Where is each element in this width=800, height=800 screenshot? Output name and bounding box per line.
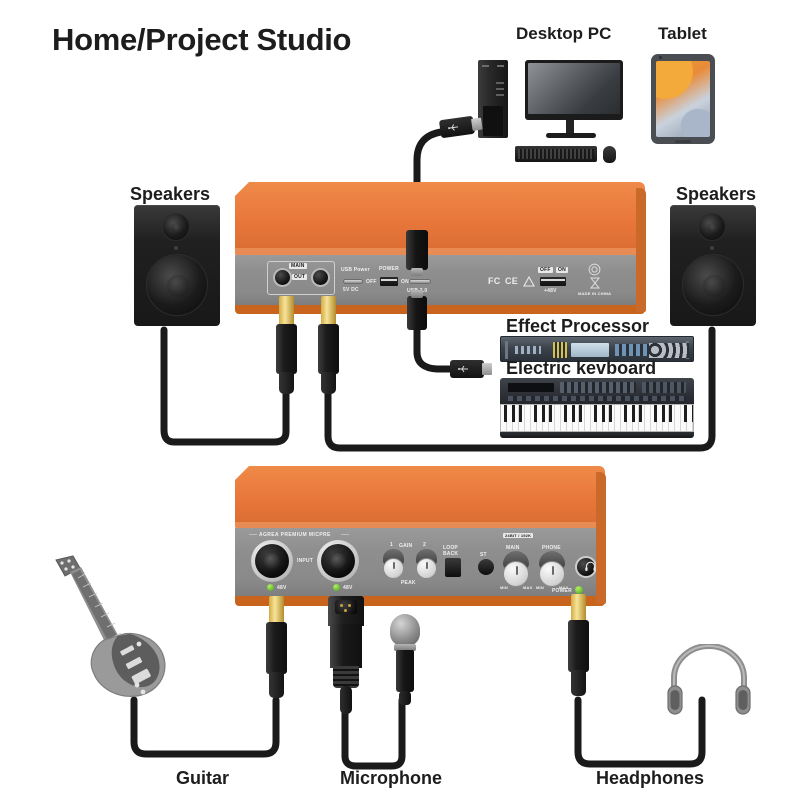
usb-icon-pc xyxy=(447,122,460,134)
usb-c-power-port[interactable] xyxy=(343,279,363,284)
electric-keyboard xyxy=(500,378,694,438)
label-tablet: Tablet xyxy=(658,24,707,44)
phantom-off-label: OFF xyxy=(538,267,553,273)
xlr-strain-relief xyxy=(333,666,359,688)
fx-meter xyxy=(553,342,567,358)
audio-interface-front: AGREA PREMIUM MICPRE INPUT 48V 48V GAIN … xyxy=(235,466,605,606)
gain-knob-2[interactable] xyxy=(416,558,437,579)
power-switch[interactable] xyxy=(380,277,398,286)
input-1-combo-jack[interactable] xyxy=(251,540,293,582)
fx-knobs xyxy=(649,343,689,358)
label-effect-processor: Effect Processor xyxy=(506,316,649,337)
guitar-plug xyxy=(266,596,287,704)
keyboard-keys xyxy=(500,404,694,432)
keyboard-base xyxy=(500,432,694,438)
input-2-combo-jack[interactable] xyxy=(317,540,359,582)
pc-keyboard xyxy=(515,146,597,162)
weee-bin-icon xyxy=(589,277,601,289)
recycle-icon xyxy=(588,263,601,276)
front-panel-face: AGREA PREMIUM MICPRE INPUT 48V 48V GAIN … xyxy=(235,528,605,596)
warning-triangle-icon xyxy=(523,276,535,287)
trs-plug-right xyxy=(318,296,339,396)
audio-interface-rear: MAIN OUT USB Power 5V DC OFF POWER ON US… xyxy=(235,182,645,314)
phantom-1-label: 48V xyxy=(277,585,287,591)
page-title: Home/Project Studio xyxy=(52,22,351,58)
label-microphone: Microphone xyxy=(340,768,442,789)
input-label: INPUT xyxy=(297,558,313,564)
power-label: POWER xyxy=(379,266,399,272)
loopback-button[interactable] xyxy=(445,558,461,577)
pc-tower xyxy=(478,60,508,138)
gain-1-number: 1 xyxy=(390,542,393,548)
label-speakers-right: Speakers xyxy=(676,184,756,205)
main-min-label: MIN xyxy=(500,585,508,590)
electric-guitar xyxy=(40,552,190,712)
keyboard-control-panel xyxy=(500,378,694,404)
interface-top-orange xyxy=(235,182,645,255)
main-label: MAIN xyxy=(289,263,307,269)
headphones xyxy=(666,644,752,720)
woofer-right xyxy=(682,254,744,316)
gain-label: GAIN xyxy=(399,543,412,549)
speaker-right xyxy=(670,205,756,326)
xlr-body xyxy=(330,624,362,668)
xlr-head xyxy=(328,596,364,626)
peak-label: PEAK xyxy=(401,580,416,586)
bit-rate-badge: 24BIT / 192K xyxy=(503,533,533,538)
speaker-left xyxy=(134,205,220,326)
tablet xyxy=(651,54,715,144)
gain-knob-1[interactable] xyxy=(383,558,404,579)
pc-monitor xyxy=(525,60,623,120)
phone-volume-knob[interactable] xyxy=(539,561,565,587)
label-speakers-left: Speakers xyxy=(130,184,210,205)
main-out-jack-left[interactable] xyxy=(273,268,292,287)
mic-grille xyxy=(390,614,420,646)
gain-2-number: 2 xyxy=(423,542,426,548)
phantom-led-1 xyxy=(267,584,274,591)
tweeter-right xyxy=(698,213,726,241)
usb-icon xyxy=(458,364,470,374)
usb-power-label: USB Power xyxy=(341,267,370,273)
fx-display xyxy=(571,343,609,357)
mic-handle xyxy=(396,650,414,692)
st-button[interactable] xyxy=(478,559,494,575)
monitor-stand-base xyxy=(546,133,596,138)
main-out-jack-right[interactable] xyxy=(311,268,330,287)
headphones-svg xyxy=(666,644,752,720)
tablet-camera xyxy=(659,56,662,59)
phantom-on-label: ON xyxy=(556,267,568,273)
phantom-power-switch[interactable] xyxy=(540,277,566,286)
tablet-home-button xyxy=(675,140,691,143)
trs-plug-left xyxy=(276,296,297,396)
power-on-label: ON xyxy=(401,279,409,285)
studio-diagram: Home/Project Studio Desktop PC Tablet xyxy=(0,0,800,800)
usb-c-plug-bottom xyxy=(407,296,427,330)
phantom-2-label: 48V xyxy=(343,585,353,591)
interface-side-rear xyxy=(636,188,646,312)
st-label: ST xyxy=(480,552,487,558)
desktop-pc xyxy=(470,60,630,165)
phantom-voltage-label: +48V xyxy=(544,288,557,294)
monitor-stand-neck xyxy=(566,120,574,134)
woofer-left xyxy=(146,254,208,316)
usb-3-port[interactable] xyxy=(409,279,431,284)
out-label: OUT xyxy=(292,274,307,280)
interface-base-front xyxy=(235,596,605,606)
made-in-label: MADE IN CHINA xyxy=(578,291,611,296)
tablet-screen xyxy=(656,61,710,137)
dynamic-microphone xyxy=(382,614,428,704)
label-electric-keyboard: Electric kevboard xyxy=(506,358,656,379)
main-volume-knob[interactable] xyxy=(503,561,529,587)
xlr-connector xyxy=(326,596,366,716)
dc-label: 5V DC xyxy=(343,287,359,293)
brand-label: AGREA PREMIUM MICPRE xyxy=(259,532,331,538)
guitar-svg xyxy=(40,552,190,712)
interface-top-orange-front xyxy=(235,466,605,528)
usb-a-plug-keyboard xyxy=(450,360,484,378)
phone-min-label: MIN xyxy=(536,585,544,590)
power-led xyxy=(575,586,583,594)
headphone-plug xyxy=(568,594,589,702)
tweeter-left xyxy=(162,213,190,241)
back-label: BACK xyxy=(443,551,458,557)
interface-side-front xyxy=(596,472,606,604)
main-max-label: MAX xyxy=(523,585,533,590)
pc-mouse xyxy=(603,146,616,163)
fx-small-knobs xyxy=(515,346,541,354)
label-guitar: Guitar xyxy=(176,768,229,789)
usb-power-off-label: OFF xyxy=(366,279,377,285)
fc-mark: FC xyxy=(488,276,500,286)
ce-mark: CE xyxy=(505,276,518,286)
usb-c-plug-top xyxy=(406,230,428,270)
label-headphones: Headphones xyxy=(596,768,704,789)
label-desktop-pc: Desktop PC xyxy=(516,24,611,44)
phantom-led-2 xyxy=(333,584,340,591)
